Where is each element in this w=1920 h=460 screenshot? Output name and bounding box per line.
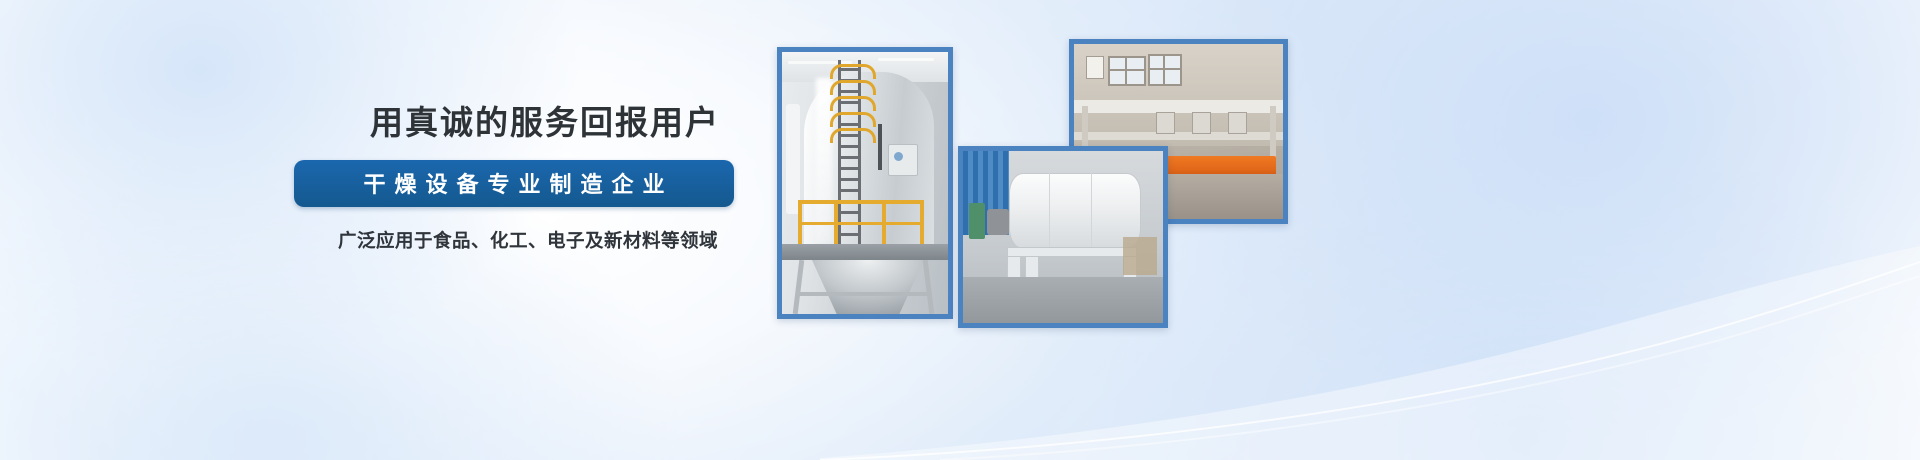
banner-subline: 广泛应用于食品、化工、电子及新材料等领域: [294, 227, 754, 253]
banner-tagline-pill: 干燥设备专业制造企业: [294, 160, 734, 207]
banner-headline: 用真诚的服务回报用户: [294, 104, 754, 143]
photo-spray-dryer: [777, 47, 953, 319]
banner-copy: 用真诚的服务回报用户 干燥设备专业制造企业 广泛应用于食品、化工、电子及新材料等…: [294, 104, 754, 253]
photo-ribbon-mixer: [958, 146, 1168, 328]
promo-banner: 用真诚的服务回报用户 干燥设备专业制造企业 广泛应用于食品、化工、电子及新材料等…: [0, 0, 1920, 460]
banner-tagline-text: 干燥设备专业制造企业: [354, 167, 673, 199]
